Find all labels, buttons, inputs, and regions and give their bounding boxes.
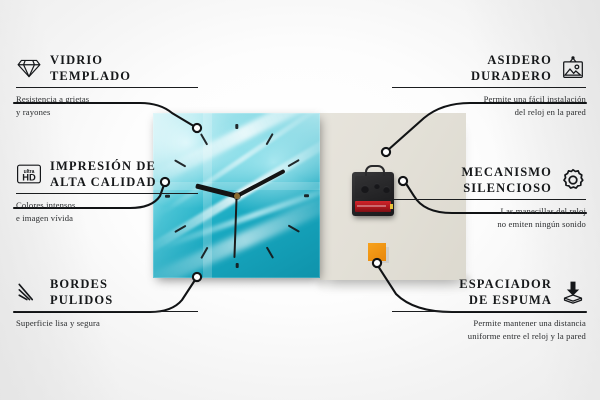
feature-subtitle-line2: no emiten ningún sonido (392, 218, 586, 230)
feature-divider (16, 87, 198, 88)
wall-hanging-frame-icon (560, 55, 586, 81)
clock-mechanism (352, 172, 394, 216)
feature-title-line2: SILENCIOSO (463, 180, 552, 196)
clock-second-hand (234, 195, 238, 257)
feature-title-line2: ALTA CALIDAD (50, 174, 157, 190)
feature-subtitle-line2: e imagen vívida (16, 212, 198, 224)
feature-title: MECANISMO SILENCIOSO (462, 164, 552, 196)
feature-bordes-pulidos: BORDES PULIDOS Superficie lisa y segura (16, 276, 198, 330)
feature-subtitle-line2: y rayones (16, 106, 198, 118)
down-arrow-pad-icon (560, 279, 586, 305)
feature-title-line1: ESPACIADOR (459, 276, 552, 292)
battery-stripe (357, 205, 386, 207)
feature-title-line1: ASIDERO (487, 52, 552, 68)
feature-impresion-alta-calidad: ultra HD IMPRESIÓN DE ALTA CALIDAD Color… (16, 158, 198, 224)
feature-title-line1: MECANISMO (462, 164, 552, 180)
clock-tick (235, 124, 238, 129)
mechanism-dial (361, 185, 369, 193)
feature-subtitle-line1: Colores intensos (16, 199, 198, 211)
feature-title-line2: DE ESPUMA (469, 292, 552, 308)
feature-divider (16, 193, 198, 194)
gear-icon (560, 167, 586, 193)
feature-title-line2: TEMPLADO (50, 68, 131, 84)
feature-title: IMPRESIÓN DE ALTA CALIDAD (50, 158, 157, 190)
clock-tick (287, 158, 299, 167)
feature-vidrio-templado: VIDRIO TEMPLADO Resistencia a grietas y … (16, 52, 198, 118)
feature-header: ESPACIADOR DE ESPUMA (392, 276, 586, 308)
mechanism-panel (355, 176, 391, 198)
infographic-canvas: VIDRIO TEMPLADO Resistencia a grietas y … (0, 0, 600, 400)
polished-edges-icon (16, 279, 42, 305)
feature-header: MECANISMO SILENCIOSO (392, 164, 586, 196)
feature-subtitle-line2: del reloj en la pared (392, 106, 586, 118)
feature-header: ultra HD IMPRESIÓN DE ALTA CALIDAD (16, 158, 198, 190)
feature-divider (392, 311, 586, 312)
feature-title-line2: DURADERO (471, 68, 552, 84)
clock-tick (265, 133, 274, 145)
feature-divider (392, 199, 586, 200)
clock-tick (304, 194, 309, 197)
feature-header: BORDES PULIDOS (16, 276, 198, 308)
feature-title-line1: IMPRESIÓN DE (50, 158, 157, 174)
feature-subtitle-line2: uniforme entre el reloj y la pared (392, 330, 586, 342)
feature-subtitle-line1: Permite mantener una distancia (392, 317, 586, 329)
hd-badge-big-text: HD (22, 172, 36, 183)
clock-center-cap (234, 193, 240, 199)
foam-spacer (368, 243, 386, 261)
ultra-hd-badge-icon: ultra HD (16, 161, 42, 187)
feature-subtitle-line1: Superficie lisa y segura (16, 317, 198, 329)
feature-title: VIDRIO TEMPLADO (50, 52, 131, 84)
feature-title: ESPACIADOR DE ESPUMA (459, 276, 552, 308)
feature-espaciador-de-espuma: ESPACIADOR DE ESPUMA Permite mantener un… (392, 276, 586, 342)
clock-tick (235, 263, 238, 268)
feature-subtitle-line1: Resistencia a grietas (16, 93, 198, 105)
feature-title: ASIDERO DURADERO (471, 52, 552, 84)
feature-asidero-duradero: ASIDERO DURADERO Permite una fácil insta… (392, 52, 586, 118)
mechanism-dial (383, 186, 390, 193)
feature-header: VIDRIO TEMPLADO (16, 52, 198, 84)
feature-subtitle-line1: Permite una fácil instalación (392, 93, 586, 105)
feature-header: ASIDERO DURADERO (392, 52, 586, 84)
mechanism-dial (374, 183, 380, 189)
diamond-icon (16, 55, 42, 81)
clock-tick (265, 246, 274, 258)
mechanism-hanger-hook (365, 165, 385, 176)
clock-tick (287, 224, 299, 233)
feature-title-line2: PULIDOS (50, 292, 113, 308)
feature-title-line1: BORDES (50, 276, 113, 292)
feature-divider (392, 87, 586, 88)
feature-title-line1: VIDRIO (50, 52, 131, 68)
feature-title: BORDES PULIDOS (50, 276, 113, 308)
feature-mecanismo-silencioso: MECANISMO SILENCIOSO Las manecillas del … (392, 164, 586, 230)
feature-divider (16, 311, 198, 312)
mechanism-battery (355, 201, 391, 212)
feature-subtitle-line1: Las manecillas del reloj (392, 205, 586, 217)
